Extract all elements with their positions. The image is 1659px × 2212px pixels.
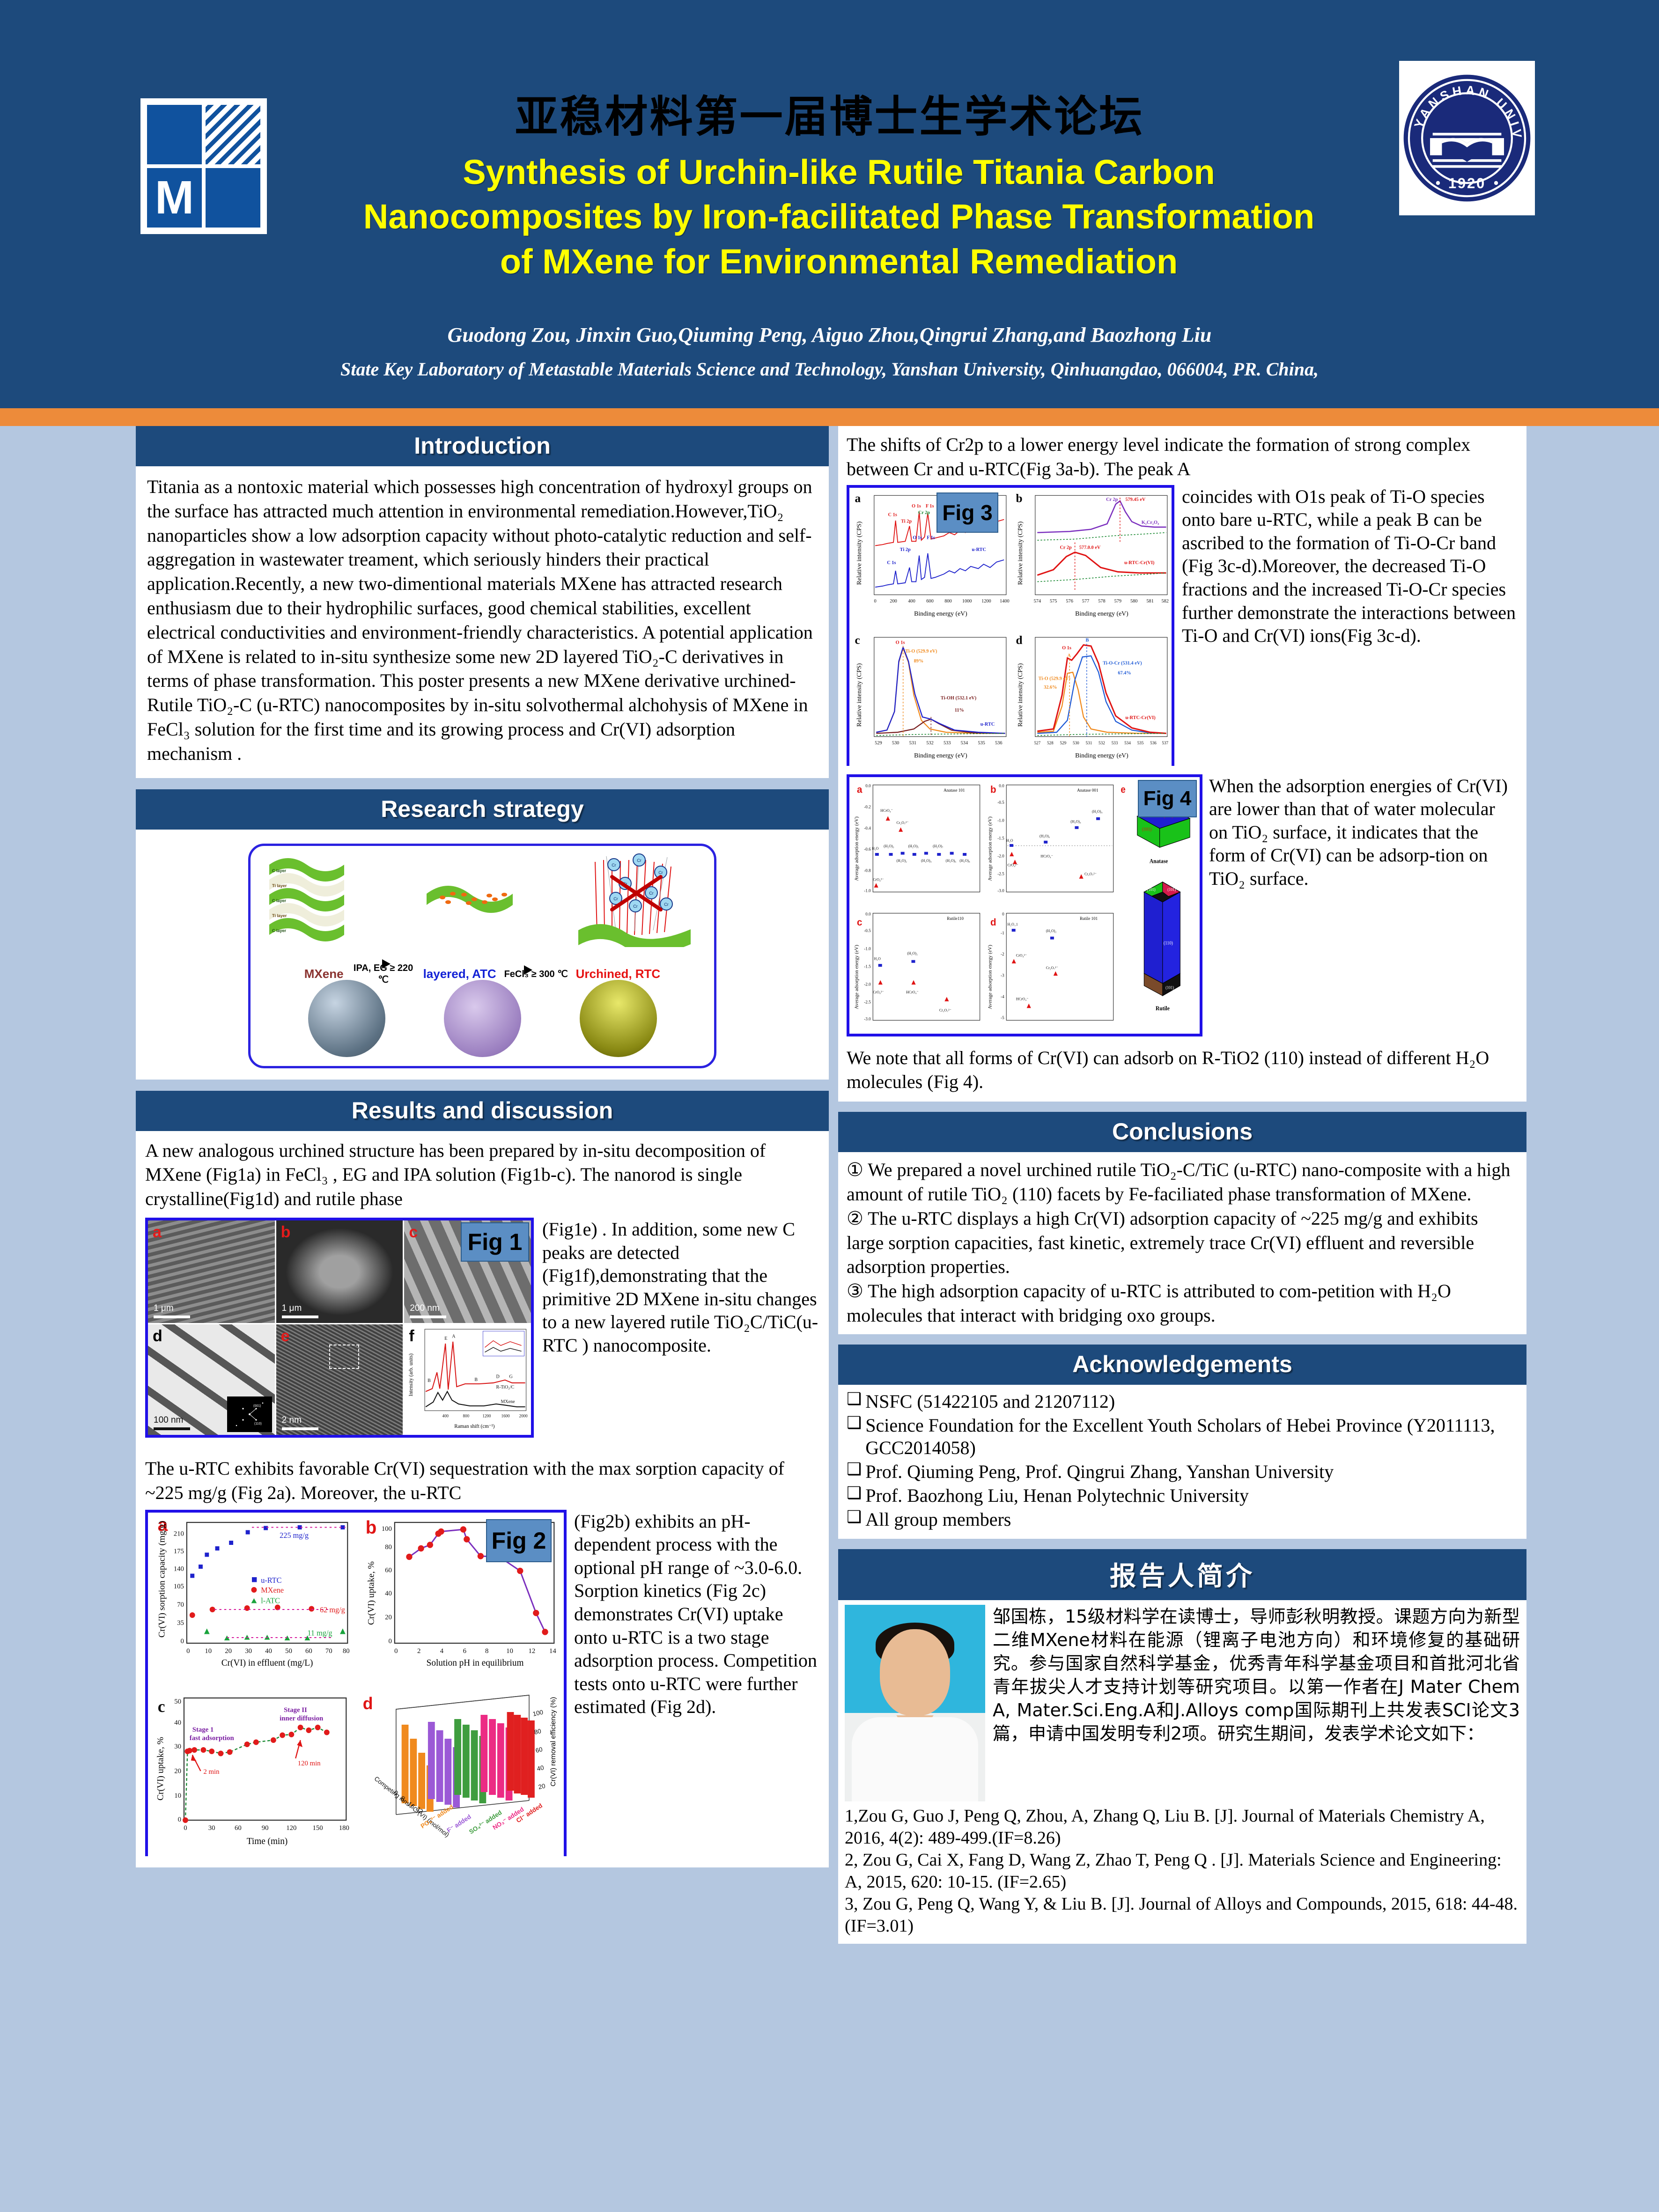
fig1b-scalebar: 1 μm [282,1303,318,1318]
yanshan-university-seal: YANSHAN UNIVERSITY 1920 [1399,61,1535,215]
svg-text:Cr₂O₇²⁻: Cr₂O₇²⁻ [896,821,908,825]
fig1-panel-b-sem: b 1 μm [276,1220,403,1323]
svg-text:0.0: 0.0 [865,912,871,917]
svg-text:Rutile110: Rutile110 [947,916,964,921]
svg-text:-0.4: -0.4 [864,826,871,830]
svg-text:530: 530 [1073,741,1079,745]
svg-text:80: 80 [533,1727,542,1736]
fig4b-anatase-001: b Anatase 001 0.0-0.5-1.0 -1.5-2.0-2.5-3… [983,777,1117,905]
poster-title-english: Synthesis of Urchin-like Rutile Titania … [197,150,1481,284]
panel-introduction: Introduction Titania as a nontoxic mater… [136,426,829,778]
figure-2-container: Fig 2 a 03570 105140175210 [145,1510,567,1856]
svg-text:G: G [509,1374,513,1380]
svg-text:Relative intensity (CPS): Relative intensity (CPS) [856,663,863,727]
svg-text:20: 20 [174,1767,181,1775]
svg-text:b: b [1016,491,1022,505]
svg-text:535: 535 [978,740,985,745]
svg-text:11%: 11% [955,708,964,713]
svg-text:-0.5: -0.5 [864,929,871,933]
svg-text:Solution pH in equilibrium: Solution pH in equilibrium [427,1658,524,1668]
photo-head [880,1629,950,1716]
fig1-panel-d-tem: d 100 nm (001) (110) [148,1324,275,1435]
results-paragraph-1: A new analogous urchined structure has b… [145,1139,819,1211]
svg-text:d: d [1016,633,1022,647]
svg-text:Ti-OH (532.1 eV): Ti-OH (532.1 eV) [941,696,976,701]
svg-text:800: 800 [944,598,951,603]
author-list: Guodong Zou, Jinxin Guo,Qiuming Peng, Ai… [0,323,1659,347]
svg-text:581: 581 [1146,598,1153,603]
svg-text:535: 535 [1137,741,1144,745]
svg-text:531: 531 [1086,741,1092,745]
conclusions-heading: Conclusions [838,1112,1526,1152]
svg-text:1920: 1920 [1448,175,1486,191]
photo-shirt [852,1717,978,1801]
svg-text:0: 0 [389,1637,392,1645]
svg-text:CrO₄²⁻: CrO₄²⁻ [873,990,884,994]
svg-text:532: 532 [926,740,933,745]
svg-text:c: c [158,1697,165,1715]
sem-circle-row [251,977,714,1059]
svg-text:20: 20 [385,1613,392,1621]
panel-speaker-bio: 报告人简介 邹国栋，15级材料学在读博士，导师彭秋明教授。课题方向为新型二维MX… [838,1549,1526,1944]
svg-text:Stage 1: Stage 1 [192,1726,214,1733]
bio-content: 邹国栋，15级材料学在读博士，导师彭秋明教授。课题方向为新型二维MXene材料在… [838,1600,1526,1803]
svg-text:e: e [1121,784,1125,795]
svg-text:A: A [452,1334,456,1339]
svg-text:530: 530 [892,740,899,745]
svg-text:H₂O: H₂O [874,956,881,961]
checkbox-icon: ❑ [847,1484,862,1507]
fig1-panel-e-hrtem: e 2 nm [276,1324,403,1435]
svg-text:(101): (101) [1147,887,1156,892]
bio-paragraph: 邹国栋，15级材料学在读博士，导师彭秋明教授。课题方向为新型二维MXene材料在… [993,1605,1520,1801]
svg-text:0: 0 [874,598,876,603]
svg-text:CrO₄²⁻: CrO₄²⁻ [873,877,884,882]
svg-text:-0.6: -0.6 [864,847,871,852]
svg-text:Anatase 101: Anatase 101 [944,788,965,793]
svg-text:30: 30 [174,1742,181,1750]
panel-acknowledgements: Acknowledgements ❑ NSFC (51422105 and 21… [838,1345,1526,1539]
svg-text:531: 531 [909,740,916,745]
svg-text:K₂Cr₂O₄: K₂Cr₂O₄ [1142,520,1159,525]
svg-text:800: 800 [463,1414,470,1418]
fig4c-rutile-110: c Rutile110 0.0-0.5-1.0 -1.5-2.0-2.5-3.0 [849,905,983,1034]
svg-text:Cr: Cr [613,897,618,901]
svg-text:50: 50 [174,1698,181,1705]
svg-text:527: 527 [1034,741,1040,745]
checkbox-icon: ❑ [847,1461,862,1484]
svg-text:140: 140 [174,1565,184,1573]
svg-text:Average adsorption energy (eV): Average adsorption energy (eV) [988,944,993,1009]
svg-text:0.0: 0.0 [865,784,871,788]
svg-text:100: 100 [532,1708,544,1717]
svg-text:Ti-O-Cr (531.4 eV): Ti-O-Cr (531.4 eV) [1103,661,1142,666]
poster-body: Introduction Titania as a nontoxic mater… [0,426,1659,2212]
svg-text:Cr: Cr [633,904,638,909]
acknowledgement-item: ❑ Prof. Qiuming Peng, Prof. Qingrui Zhan… [847,1461,1518,1484]
acknowledgement-text: All group members [865,1508,1011,1531]
svg-text:Average adsorption energy (eV): Average adsorption energy (eV) [854,816,859,881]
fig2a-sorption-isotherm: a 03570 105140175210 01020 304050 [148,1513,356,1688]
svg-text:MXene: MXene [261,1585,284,1594]
acknowledgement-text: Prof. Baozhong Liu, Henan Polytechnic Un… [865,1484,1249,1507]
xps-paragraph: The shifts of Cr2p to a lower energy lev… [847,433,1518,481]
svg-text:1400: 1400 [1000,598,1010,603]
svg-text:-2.0: -2.0 [998,854,1005,859]
svg-text:529: 529 [875,740,882,745]
svg-text:Ti layer: Ti layer [272,913,287,918]
svg-text:Ti 2p: Ti 2p [900,547,911,552]
svg-text:CrO₄²⁻: CrO₄²⁻ [1008,863,1018,867]
svg-text:-1: -1 [1001,931,1005,935]
svg-text:30: 30 [245,1647,252,1654]
svg-text:HCrO₄⁻: HCrO₄⁻ [880,808,893,812]
svg-text:-1.0: -1.0 [864,947,871,951]
svg-text:105: 105 [174,1582,184,1590]
svg-text:Cr₂O₇²⁻: Cr₂O₇²⁻ [1046,965,1058,970]
svg-text:12: 12 [529,1647,536,1654]
svg-text:0: 0 [184,1824,187,1831]
svg-text:Cr 2p: Cr 2p [918,510,930,515]
svg-text:Cr 2p: Cr 2p [1060,545,1072,550]
checkbox-icon: ❑ [847,1508,862,1531]
svg-text:-0.2: -0.2 [864,805,871,809]
figure-3-container: Fig 3 a C 1sTi 2pO 1s [847,485,1174,766]
svg-text:575: 575 [1050,598,1057,603]
svg-text:Cr₂O₇²⁻: Cr₂O₇²⁻ [939,1008,951,1012]
svg-text:C 1s: C 1s [887,560,896,566]
svg-text:89%: 89% [914,659,924,664]
svg-text:40: 40 [385,1589,392,1597]
svg-text:Ti-O (529.9 eV): Ti-O (529.9 eV) [1039,676,1070,681]
fig1-label-c: c [409,1223,418,1242]
svg-text:u-RTC-Cr(VI): u-RTC-Cr(VI) [1124,560,1154,566]
fig1-label-d: d [153,1327,162,1345]
fig1-label-f: f [409,1327,414,1345]
svg-text:c: c [857,917,863,927]
svg-text:Binding energy (eV): Binding energy (eV) [1075,752,1128,759]
svg-text:Rutile 101: Rutile 101 [1080,916,1098,921]
svg-text:200: 200 [890,598,897,603]
svg-text:536: 536 [1150,741,1157,745]
svg-text:600: 600 [926,598,933,603]
fig3d-svg: d [1010,630,1172,772]
svg-text:l-ATC: l-ATC [261,1596,280,1605]
svg-text:50: 50 [285,1647,292,1654]
svg-text:577: 577 [1082,598,1089,603]
svg-text:20: 20 [538,1782,546,1791]
fig3d-o1s-urtc-cr: d [1010,630,1172,772]
research-strategy-figure: C layer Ti layer C layer Ti layer C laye… [136,830,829,1080]
svg-text:(101): (101) [1165,985,1174,990]
mxene-flake-stack-icon: C layer Ti layer C layer Ti layer C laye… [265,851,386,947]
logo-letter-m: M [147,168,202,228]
svg-text:2 min: 2 min [203,1768,220,1775]
svg-text:Cr(VI) sorption capacity (mg/g: Cr(VI) sorption capacity (mg/g) [157,1521,167,1638]
results-paragraph-2: The u-RTC exhibits favorable Cr(VI) sequ… [145,1456,819,1505]
svg-text:80: 80 [343,1647,350,1654]
figure-2-tag: Fig 2 [486,1519,552,1562]
figure-4-tag: Fig 4 [1138,780,1197,817]
svg-text:0: 0 [1003,912,1005,917]
svg-text:fast adsorption: fast adsorption [190,1734,235,1742]
introduction-heading: Introduction [136,426,829,466]
title-line-2: Nanocomposites by Iron-facilitated Phase… [197,194,1481,239]
svg-text:Cr(VI) uptake, %: Cr(VI) uptake, % [367,1561,376,1625]
svg-text:-2.5: -2.5 [864,1000,871,1005]
svg-text:6: 6 [463,1647,466,1654]
svg-text:30: 30 [208,1824,215,1831]
poster-header: M 亚稳材料第一届博士生学术论坛 Synthesis of Urchin-lik… [0,0,1659,412]
svg-text:H₂O: H₂O [872,846,878,850]
svg-text:a: a [855,491,861,505]
svg-text:8: 8 [485,1647,488,1654]
svg-text:-1.0: -1.0 [998,818,1005,823]
svg-text:1600: 1600 [501,1414,510,1418]
svg-text:20: 20 [225,1647,232,1654]
svg-text:(110): (110) [1164,940,1173,946]
svg-text:70: 70 [177,1601,184,1608]
fig1d-saed-inset: (001) (110) [227,1396,272,1432]
svg-text:528: 528 [1047,741,1054,745]
svg-text:120: 120 [286,1824,296,1831]
svg-text:11 mg/g: 11 mg/g [307,1628,332,1637]
svg-text:C layer: C layer [272,898,287,903]
svg-text:Ti layer: Ti layer [272,883,287,888]
svg-text:536: 536 [995,740,1002,745]
svg-text:1000: 1000 [962,598,972,603]
svg-text:Cr(VI) in effluent (mg/L): Cr(VI) in effluent (mg/L) [221,1658,313,1668]
panel-research-strategy: Research strategy [136,789,829,1080]
fig2c-sorption-kinetics: c 01020 304050 03060 90120150 [148,1688,356,1864]
svg-text:582: 582 [1162,598,1169,603]
svg-text:Cr(VI) removal efficiency (%): Cr(VI) removal efficiency (%) [550,1697,557,1786]
svg-text:40: 40 [174,1719,181,1726]
fig4a-svg: a Anatase 101 0.0-0.2-0.4 -0.6-0.8-1.0 [849,777,983,905]
title-line-3: of MXene for Environmental Remediation [197,239,1481,284]
svg-text:Cr: Cr [649,891,654,896]
svg-text:10: 10 [174,1792,181,1799]
fig1-panel-a-sem: a 1 μm [148,1220,275,1323]
svg-text:Stage II: Stage II [284,1706,307,1713]
acknowledgement-item: ❑ Science Foundation for the Excellent Y… [847,1414,1518,1460]
svg-text:C 1s: C 1s [888,512,897,517]
svg-text:70: 70 [325,1647,332,1654]
svg-text:B: B [475,1377,478,1382]
research-strategy-heading: Research strategy [136,789,829,830]
svg-text:O 1s: O 1s [913,535,922,540]
svg-text:B: B [428,1378,431,1383]
svg-text:180: 180 [339,1824,349,1831]
svg-text:Binding energy (eV): Binding energy (eV) [914,610,967,617]
panel-xps-discussion: The shifts of Cr2p to a lower energy lev… [838,426,1526,1102]
svg-text:u-RTC: u-RTC [981,722,995,727]
svg-text:Intensity (arb. units): Intensity (arb. units) [408,1353,414,1396]
svg-text:b: b [366,1517,377,1537]
raman-spectrum-plot: BEA BDG R-TiO₂/CMXene 400800 12001600200… [404,1324,531,1435]
svg-text:-1.0: -1.0 [864,889,871,893]
layered-atc-icon [424,875,531,920]
svg-text:-5: -5 [1001,1015,1005,1020]
fig1e-scalebar: 2 nm [282,1415,318,1430]
accent-orange-bar [0,408,1659,426]
svg-text:-3.0: -3.0 [998,889,1005,893]
svg-text:MXene: MXene [501,1399,516,1404]
svg-text:10: 10 [205,1647,212,1654]
fig2d-svg: d [356,1688,564,1864]
svg-text:67.4%: 67.4% [1118,670,1131,676]
svg-text:Average adsorption energy (eV): Average adsorption energy (eV) [988,816,993,881]
svg-text:400: 400 [908,598,915,603]
svg-text:O 1s: O 1s [896,640,905,645]
svg-text:(H₂O)₈: (H₂O)₈ [959,859,970,863]
figure-4-container: Fig 4 a Anatase 101 0.0-0.2-0.4 -0.6-0.8 [847,774,1202,1036]
left-column: Introduction Titania as a nontoxic mater… [136,426,829,1867]
svg-text:175: 175 [174,1547,184,1555]
fig3b-svg: b Cr 2p [1010,488,1172,630]
acknowledgement-text: NSFC (51422105 and 21207112) [865,1390,1115,1413]
sem-circle-urchined [580,980,657,1057]
svg-text:100: 100 [382,1525,392,1532]
reference-item: 2, Zou G, Cai X, Fang D, Wang Z, Zhao T,… [845,1849,1520,1893]
svg-text:(H₂O)₂: (H₂O)₂ [1040,834,1051,838]
acknowledgement-item: ❑ NSFC (51422105 and 21207112) [847,1390,1518,1413]
sem-circle-mxene [308,980,385,1057]
panel-conclusions: Conclusions ① We prepared a novel urchin… [838,1112,1526,1334]
svg-text:150: 150 [313,1824,323,1831]
svg-text:537: 537 [1162,741,1168,745]
fig3c-svg: c [849,630,1010,772]
svg-text:(101): (101) [1167,887,1176,892]
svg-text:578: 578 [1098,598,1105,603]
fig1-label-a: a [153,1223,162,1242]
svg-text:-2.5: -2.5 [998,872,1005,876]
svg-text:-2: -2 [1001,952,1005,957]
svg-text:32.6%: 32.6% [1044,685,1057,690]
figure-1-container: Fig 1 a 1 μm b 1 μm c [145,1218,534,1438]
svg-text:(H₂O)₄: (H₂O)₄ [921,859,932,863]
svg-text:0: 0 [178,1815,181,1823]
svg-text:D: D [496,1374,500,1380]
svg-text:Relative intensity (CPS): Relative intensity (CPS) [1017,663,1024,727]
svg-text:529: 529 [1060,741,1066,745]
svg-text:2000: 2000 [519,1414,528,1418]
acknowledgement-item: ❑ All group members [847,1508,1518,1531]
svg-text:Binding energy (eV): Binding energy (eV) [1075,610,1128,617]
svg-text:(H₂O)₂: (H₂O)₂ [1046,929,1057,933]
fig1-label-b: b [281,1223,291,1242]
acknowledgement-text: Science Foundation for the Excellent You… [865,1414,1518,1460]
svg-text:B: B [1086,638,1089,643]
fig1d-scalebar: 100 nm [154,1415,190,1430]
affiliation-line: State Key Laboratory of Metastable Mater… [0,358,1659,380]
svg-text:579.45 eV: 579.45 eV [1125,497,1145,502]
svg-text:(H₂O)₅: (H₂O)₅ [908,844,919,848]
conclusion-item-2: ② The u-RTC displays a high Cr(VI) adsor… [847,1206,1518,1279]
fig1e-dashed-box [329,1345,359,1369]
svg-text:Cr: Cr [612,863,616,867]
svg-text:(001): (001) [253,1404,261,1408]
svg-text:225 mg/g: 225 mg/g [280,1530,309,1539]
svg-text:c: c [855,633,860,647]
seal-graphic: YANSHAN UNIVERSITY 1920 [1401,72,1533,204]
svg-text:(H₂O)₂: (H₂O)₂ [896,859,907,863]
svg-text:Ti 2p: Ti 2p [901,519,912,524]
svg-text:Rutile: Rutile [1156,1005,1170,1012]
svg-text:60: 60 [385,1566,392,1574]
svg-text:35: 35 [177,1619,184,1626]
svg-text:0: 0 [181,1637,184,1645]
svg-text:532: 532 [1099,741,1105,745]
svg-text:Time (min): Time (min) [247,1836,288,1846]
svg-text:(H₂O)₂: (H₂O)₂ [907,951,918,955]
scheme-card: C layer Ti layer C layer Ti layer C laye… [248,844,716,1068]
rutile-crystal-shape: (101) (101) (110) (101) Rutile [1144,882,1180,1012]
checkbox-icon: ❑ [847,1414,862,1460]
fig4a-anatase-101: a Anatase 101 0.0-0.2-0.4 -0.6-0.8-1.0 [849,777,983,905]
sem-circle-layered [444,980,521,1057]
svg-text:O 1s: O 1s [1062,646,1071,651]
svg-text:C layer: C layer [272,868,287,873]
reference-item: 3, Zou G, Peng Q, Wang Y, & Liu B. [J]. … [845,1893,1520,1937]
svg-text:Cr: Cr [637,858,641,863]
checkbox-icon: ❑ [847,1390,862,1413]
svg-text:-4: -4 [1001,994,1005,999]
svg-text:14: 14 [549,1647,556,1654]
fig3b-cr2p-spectra: b Cr 2p [1010,488,1172,630]
svg-text:60: 60 [235,1824,242,1831]
svg-text:Average adsorption energy (eV): Average adsorption energy (eV) [854,944,859,1009]
svg-text:HCrO₄⁻: HCrO₄⁻ [1016,997,1029,1001]
acknowledgement-text: Prof. Qiuming Peng, Prof. Qingrui Zhang,… [865,1461,1334,1484]
svg-text:u-RTC: u-RTC [261,1575,281,1584]
svg-text:Ti-O (529.9 eV): Ti-O (529.9 eV) [905,649,937,654]
fig2a-svg: a 03570 105140175210 01020 304050 [148,1513,356,1688]
svg-text:Cr: Cr [658,870,663,875]
saed-pattern: (001) (110) [227,1396,272,1432]
svg-text:579: 579 [1114,598,1121,603]
speaker-photo [845,1605,985,1801]
svg-text:-3.0: -3.0 [864,1017,871,1021]
svg-text:Anatase 001: Anatase 001 [1077,788,1099,793]
svg-text:(101): (101) [1142,826,1151,832]
svg-text:Binding energy (eV): Binding energy (eV) [914,752,967,759]
fig3c-o1s-urtc: c [849,630,1010,772]
svg-text:0: 0 [186,1647,190,1654]
svg-text:d: d [363,1694,373,1712]
svg-text:1200: 1200 [483,1414,491,1418]
svg-text:80: 80 [385,1543,392,1551]
svg-text:Cr: Cr [664,902,669,907]
svg-text:HCrO₄⁻: HCrO₄⁻ [1041,854,1054,858]
svg-text:-0.5: -0.5 [998,801,1005,805]
svg-text:b: b [990,784,996,795]
svg-text:A: A [1068,653,1071,658]
svg-text:-2.0: -2.0 [864,982,871,987]
svg-text:a: a [857,784,863,795]
svg-text:F 1s: F 1s [927,535,935,540]
svg-text:C layer: C layer [272,928,287,933]
fig1-panel-f-raman: f BEA BDG R-TiO₂/CMXene [404,1324,531,1435]
poster-root: M 亚稳材料第一届博士生学术论坛 Synthesis of Urchin-lik… [0,0,1659,2212]
svg-text:210: 210 [174,1530,184,1537]
svg-text:Relative intensity (CPS): Relative intensity (CPS) [856,521,863,585]
svg-text:(H₂O)₇: (H₂O)₇ [933,844,944,848]
fig4c-svg: c Rutile110 0.0-0.5-1.0 -1.5-2.0-2.5-3.0 [849,905,983,1034]
svg-text:-1.5: -1.5 [998,836,1005,841]
svg-text:H₂O: H₂O [1007,838,1013,843]
svg-text:534: 534 [1124,741,1131,745]
